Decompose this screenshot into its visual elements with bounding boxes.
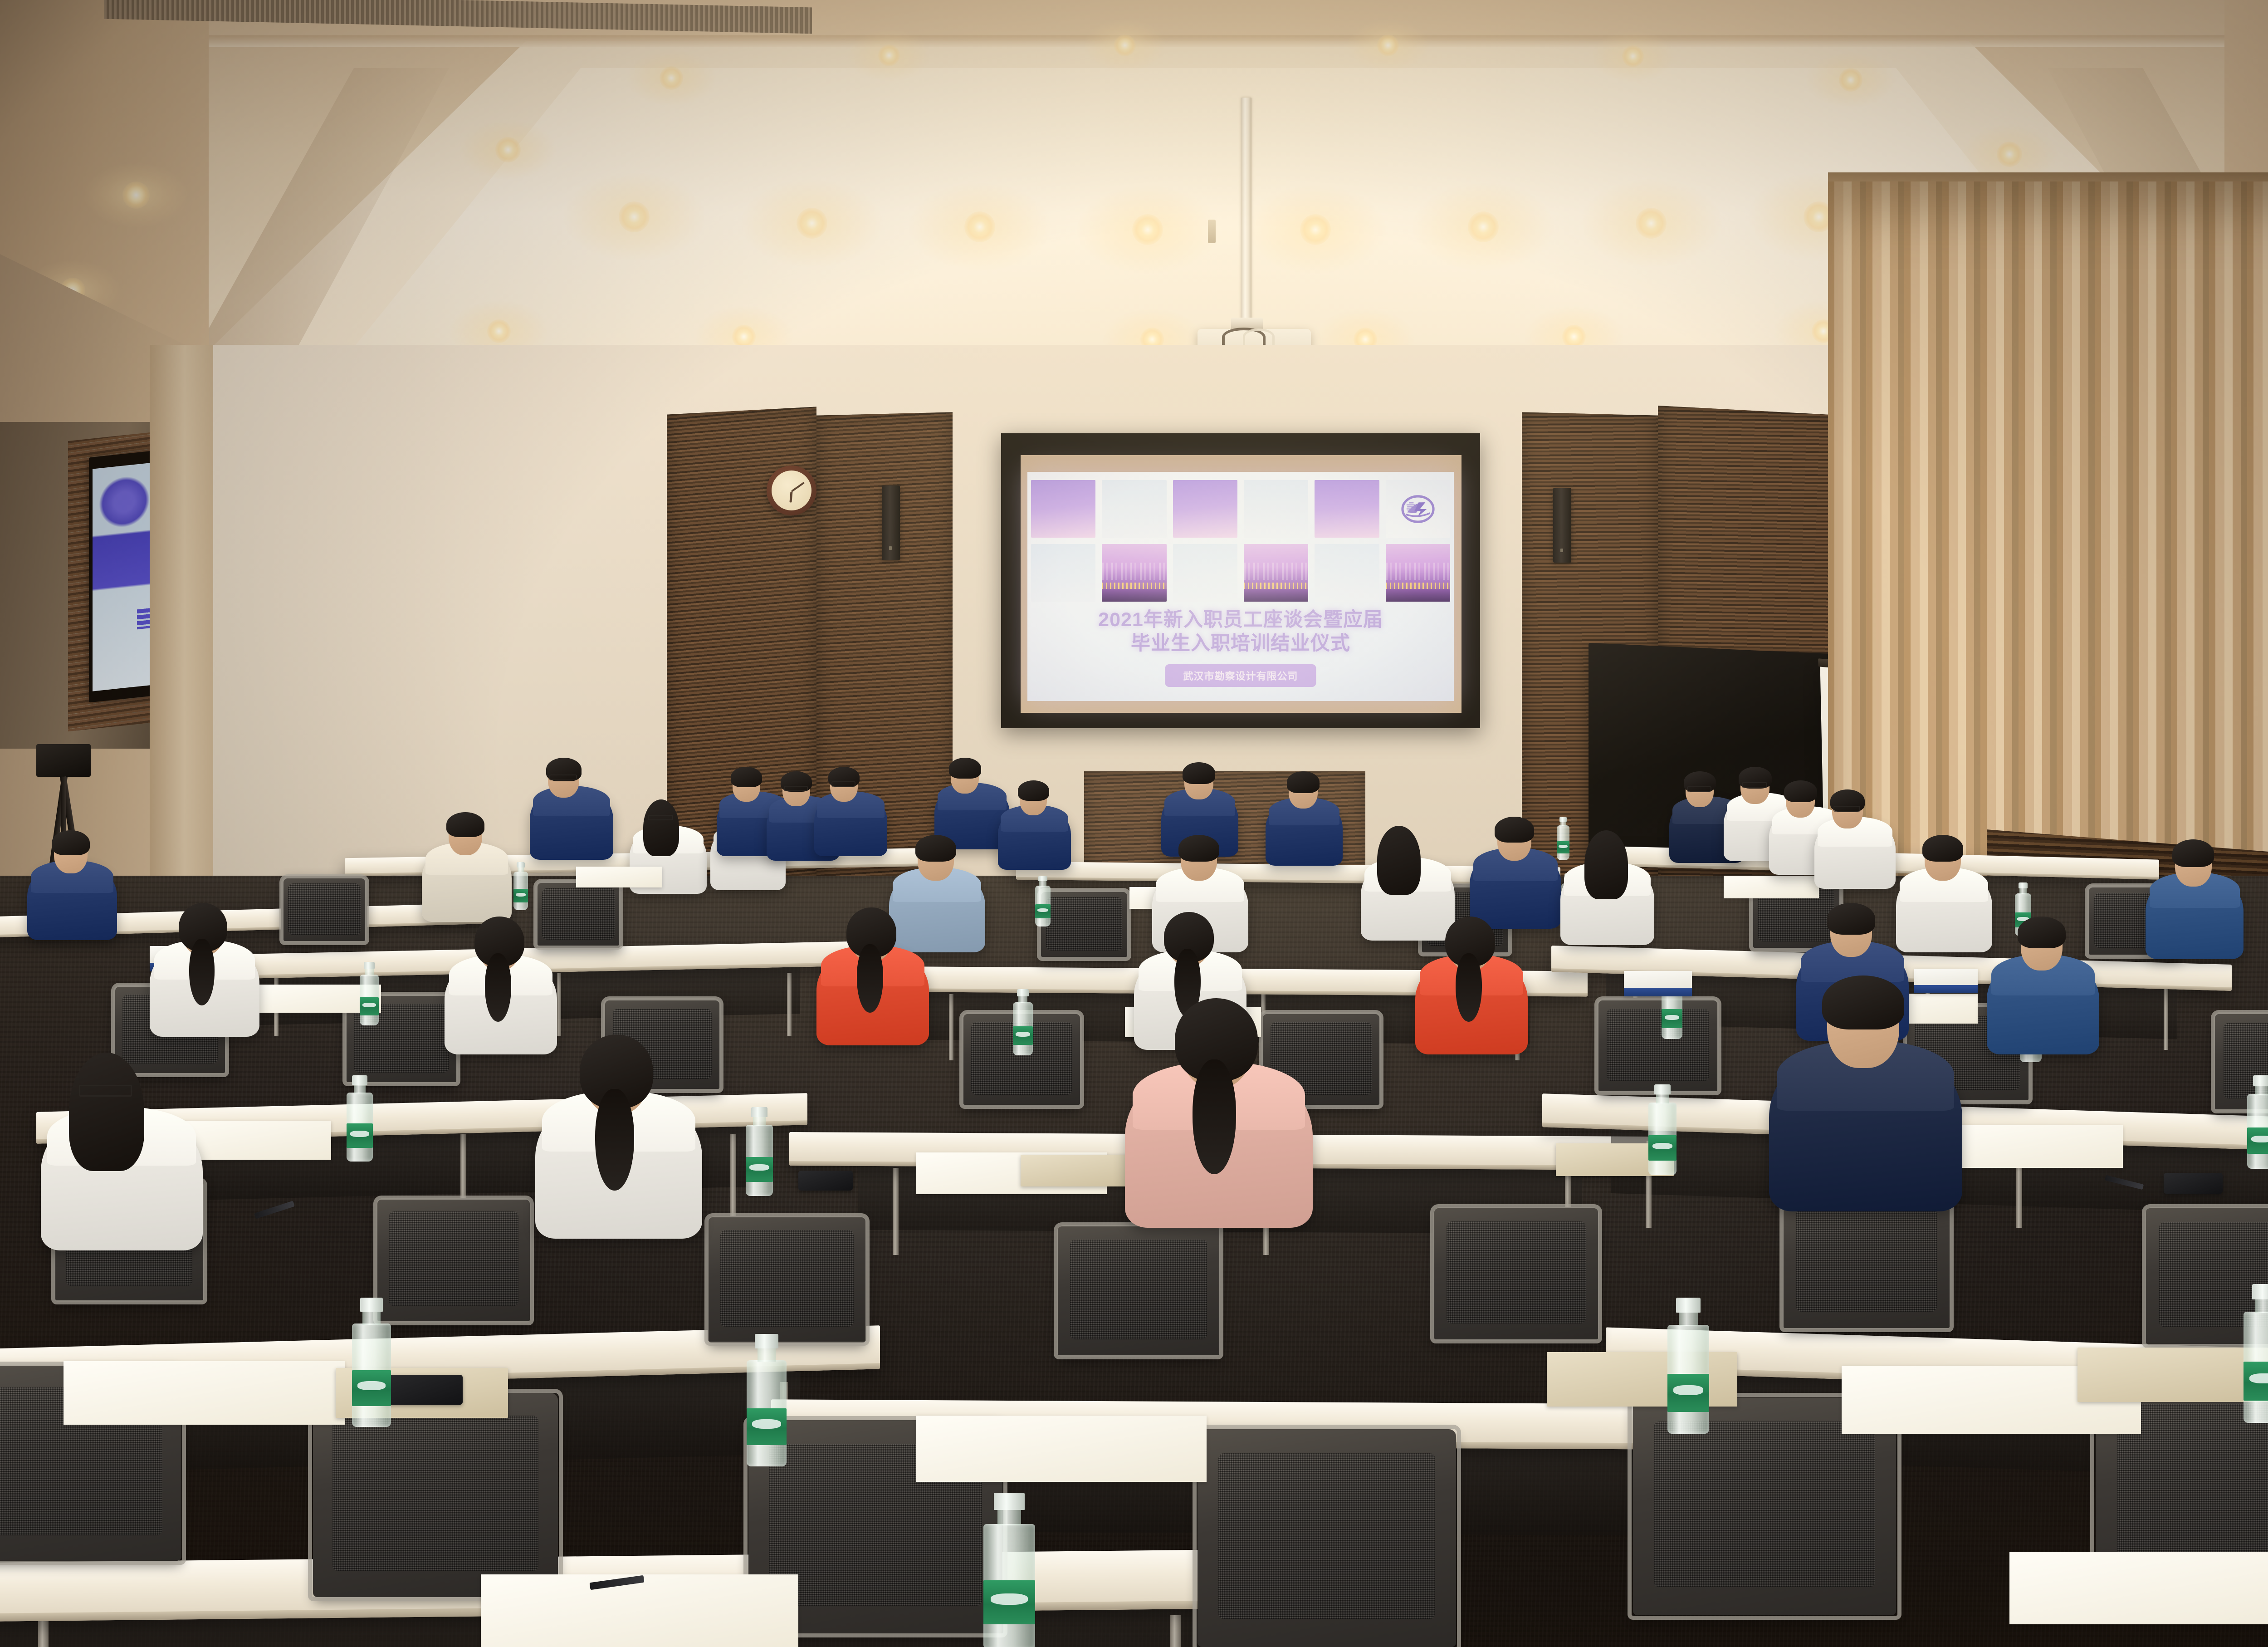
slide-light-tile — [1244, 480, 1308, 538]
water-bottle[interactable] — [1012, 989, 1034, 1055]
bottle-cap — [2253, 1075, 2268, 1086]
bottle-cap — [360, 1298, 383, 1312]
bottle-label — [1013, 1026, 1033, 1045]
bottle-neck — [997, 1509, 1021, 1526]
attendee-ponytail — [189, 939, 215, 1005]
bottle-cap — [751, 1107, 767, 1117]
ceiling-downlight — [1132, 214, 1163, 245]
slide-logo-tile — [1386, 480, 1450, 538]
table-leg — [893, 1168, 899, 1255]
ceiling-downlight — [660, 66, 683, 90]
slide-light-tile — [1315, 544, 1379, 602]
attendee-hair — [915, 835, 956, 862]
projector-mount-pole — [1241, 98, 1251, 324]
bottle-cap — [364, 962, 375, 969]
bottle-neck — [1018, 996, 1027, 1003]
attendee-ponytail — [485, 953, 511, 1022]
bottle-cap — [755, 1334, 778, 1348]
attendee-hair — [949, 758, 981, 779]
attendee — [814, 767, 887, 863]
attendee-ponytail — [1193, 1059, 1236, 1174]
name-placard — [1624, 971, 1692, 996]
attendee — [535, 1034, 702, 1255]
mesh-office-chair[interactable] — [1039, 889, 1129, 960]
company-logo-icon — [99, 474, 150, 530]
attendee-hair — [1784, 780, 1817, 802]
ceiling-downlight — [1839, 68, 1862, 92]
smartphone[interactable] — [798, 1171, 853, 1191]
attendee — [1125, 998, 1313, 1246]
glasses-icon — [549, 774, 577, 780]
ceiling-downlight — [619, 201, 650, 232]
slide-cityscape-tile — [1102, 544, 1166, 602]
mesh-office-chair[interactable] — [281, 876, 367, 944]
glasses-icon — [1742, 782, 1767, 788]
ceiling-downlight — [1997, 142, 2022, 167]
attendee — [41, 1053, 203, 1266]
glasses-icon — [831, 781, 855, 787]
bottle-cap — [994, 1493, 1025, 1510]
bottle-cap — [1038, 876, 1047, 881]
slide-cityscape-tile — [1386, 544, 1450, 602]
bottle-label — [2247, 1127, 2268, 1154]
table-leg — [949, 994, 953, 1060]
bottle-label — [1035, 904, 1050, 918]
bottle-neck — [758, 1347, 776, 1362]
table-leg — [787, 973, 792, 1036]
bottle-label — [746, 1157, 773, 1182]
mesh-office-chair[interactable] — [1198, 1429, 1456, 1647]
smartphone[interactable] — [2164, 1173, 2223, 1194]
water-bottle[interactable] — [1647, 1084, 1678, 1175]
wall-speaker-left — [882, 485, 900, 560]
attendee-hair — [1827, 903, 1875, 935]
slide-light-tile — [1031, 544, 1095, 602]
ceiling-downlight — [1114, 34, 1136, 56]
mesh-office-chair[interactable] — [376, 1198, 531, 1323]
attendee-ponytail — [595, 1089, 634, 1191]
ceiling-downlight — [878, 44, 900, 66]
bottle-label — [360, 997, 379, 1015]
attendee — [150, 903, 259, 1048]
attendee — [1814, 789, 1896, 897]
projected-slide: 2021年新入职员工座谈会暨应届 毕业生入职培训结业仪式 武汉市勘察设计有限公司 — [1027, 472, 1454, 701]
bottle-label — [1662, 1009, 1682, 1028]
ceiling-downlight — [797, 208, 827, 239]
attendee — [27, 830, 117, 949]
bottle-neck — [1039, 881, 1046, 886]
attendee-hair — [69, 1053, 144, 1171]
attendee-hair — [1018, 780, 1049, 801]
slide-light-tile — [1102, 480, 1166, 538]
attendee-hair — [1377, 826, 1421, 895]
bottle-label — [352, 1370, 391, 1407]
attendee — [1560, 830, 1654, 955]
attendee-hair — [52, 830, 90, 855]
bottle-neck — [753, 1116, 765, 1126]
mesh-office-chair[interactable] — [708, 1216, 866, 1343]
chair-frame — [279, 874, 369, 945]
attendee — [1769, 975, 1962, 1230]
bottle-label — [1667, 1374, 1709, 1412]
slide-cityscape-tile — [1244, 544, 1308, 602]
attendee-hair — [1287, 771, 1320, 793]
bottle-cap — [2252, 1284, 2268, 1299]
wall-speaker-right — [1553, 488, 1571, 563]
chair-frame — [1193, 1425, 1461, 1647]
slide-purple-tile — [1173, 480, 1237, 538]
attendee-ponytail — [1456, 953, 1482, 1022]
chair-frame — [308, 1389, 563, 1601]
glasses-icon — [79, 1085, 132, 1097]
bottle-neck — [1679, 1311, 1698, 1326]
projector-cable-light — [1243, 328, 1275, 345]
attendee-hair — [2172, 839, 2214, 867]
bottle-cap — [2019, 882, 2028, 888]
slide-title-line-1: 2021年新入职员工座谈会暨应届 — [1027, 608, 1454, 632]
attendee — [1896, 835, 1992, 962]
paper-handout[interactable] — [481, 1574, 798, 1647]
smoke-detector-icon — [1208, 220, 1216, 243]
chair-frame — [373, 1196, 534, 1325]
table-leg — [1170, 1615, 1181, 1647]
table-leg — [557, 973, 562, 1036]
attendee-hair — [731, 767, 762, 787]
glasses-icon — [1833, 806, 1860, 812]
water-bottle[interactable] — [345, 1075, 375, 1162]
attendee-hair — [643, 799, 679, 856]
ceiling-downlight — [1377, 34, 1399, 56]
bottle-label — [513, 889, 528, 902]
placard-color-bar — [1624, 988, 1692, 996]
bottle-neck — [1656, 1093, 1669, 1103]
ceiling-downlight — [1622, 45, 1644, 67]
video-camera — [36, 744, 91, 777]
slide-purple-tile — [1315, 480, 1379, 538]
water-bottle[interactable] — [980, 1493, 1039, 1647]
bottle-cap — [1017, 989, 1029, 996]
paper-handout[interactable] — [2009, 1552, 2268, 1624]
analog-wall-clock — [767, 466, 816, 515]
notebook[interactable] — [1021, 1155, 1134, 1186]
ceiling-downlight — [495, 137, 521, 162]
glasses-icon — [1687, 786, 1711, 792]
attendee — [530, 758, 613, 868]
attendee — [1266, 771, 1343, 873]
attendee-hair — [1922, 835, 1963, 862]
slide-purple-tile — [1031, 480, 1095, 538]
water-bottle[interactable] — [1665, 1298, 1712, 1434]
bottle-cap — [1654, 1084, 1671, 1094]
water-bottle[interactable] — [349, 1298, 394, 1427]
chair-frame — [1594, 996, 1722, 1095]
ceiling-downlight — [122, 181, 150, 209]
clock-face — [772, 471, 811, 510]
chair-frame — [1430, 1204, 1603, 1343]
water-bottle[interactable] — [1034, 876, 1051, 926]
ceiling-downlight — [1636, 208, 1667, 239]
attendee-hair — [1178, 835, 1219, 862]
bottle-label — [347, 1123, 373, 1147]
attendee — [2146, 839, 2244, 969]
table-leg — [2164, 981, 2168, 1050]
bottle-label — [1648, 1135, 1677, 1161]
water-bottle[interactable] — [744, 1334, 789, 1466]
bottle-neck — [362, 1311, 380, 1325]
attendee-ponytail — [857, 944, 883, 1013]
bottle-label — [747, 1408, 787, 1446]
bottle-neck — [365, 968, 373, 975]
attendee-hair — [1183, 762, 1216, 784]
bottle-neck — [354, 1084, 366, 1093]
bottle-neck — [2019, 888, 2027, 894]
water-bottle[interactable] — [2241, 1284, 2268, 1423]
conference-room-scene: 2021年新入职员工座谈会暨应届 毕业生入职培训结业仪式 武汉市勘察设计有限公司 — [0, 0, 2268, 1647]
attendee-hair — [446, 812, 484, 837]
paper-handout[interactable] — [916, 1416, 1207, 1482]
slide-title-line-2: 毕业生入职培训结业仪式 — [1027, 632, 1454, 655]
bottle-cap — [1676, 1298, 1701, 1313]
slide-title: 2021年新入职员工座谈会暨应届 毕业生入职培训结业仪式 — [1027, 608, 1454, 656]
slide-company-badge: 武汉市勘察设计有限公司 — [1165, 664, 1316, 687]
attendee-hair — [1584, 830, 1628, 899]
attendee-hair — [1495, 817, 1534, 843]
bottle-label — [983, 1580, 1035, 1624]
clock-hour-hand — [789, 491, 792, 502]
paper-handout[interactable] — [576, 867, 662, 887]
glasses-icon — [784, 786, 808, 791]
bottle-cap — [517, 862, 525, 868]
bottle-neck — [2255, 1298, 2268, 1314]
attendee — [422, 812, 512, 931]
paper-handout[interactable] — [64, 1361, 345, 1425]
slide-image-mosaic — [1027, 480, 1454, 602]
yellow-crane-tower-k-logo — [1401, 492, 1435, 526]
bottle-neck — [2255, 1085, 2268, 1095]
bottle-label — [2244, 1362, 2268, 1401]
ceiling-downlight — [487, 319, 511, 343]
water-bottle[interactable] — [513, 862, 529, 910]
water-bottle[interactable] — [744, 1107, 775, 1196]
attendee — [816, 907, 929, 1056]
attendee — [1415, 917, 1528, 1065]
bottle-neck — [518, 867, 524, 873]
water-bottle[interactable] — [358, 962, 380, 1025]
attendee-hair — [2018, 917, 2066, 948]
water-bottle[interactable] — [2245, 1075, 2268, 1169]
ceiling-downlight — [964, 211, 995, 242]
chair-frame — [704, 1213, 870, 1345]
table-leg — [730, 1134, 736, 1217]
notebook[interactable] — [2077, 1348, 2268, 1402]
attendee-hair — [1822, 975, 1904, 1029]
slide-light-tile — [1173, 544, 1237, 602]
attendee — [998, 780, 1071, 877]
clock-minute-hand — [791, 482, 805, 492]
ceiling-downlight — [1468, 211, 1499, 242]
glasses-icon — [648, 815, 673, 820]
mesh-office-chair[interactable] — [1433, 1207, 1599, 1341]
display-screen — [93, 462, 156, 691]
bottle-cap — [352, 1075, 367, 1085]
mesh-office-chair[interactable] — [1597, 998, 1719, 1093]
ceiling-coffer-rim — [172, 35, 2268, 47]
ceiling-downlight — [1300, 214, 1331, 245]
attendee — [1987, 917, 2099, 1065]
